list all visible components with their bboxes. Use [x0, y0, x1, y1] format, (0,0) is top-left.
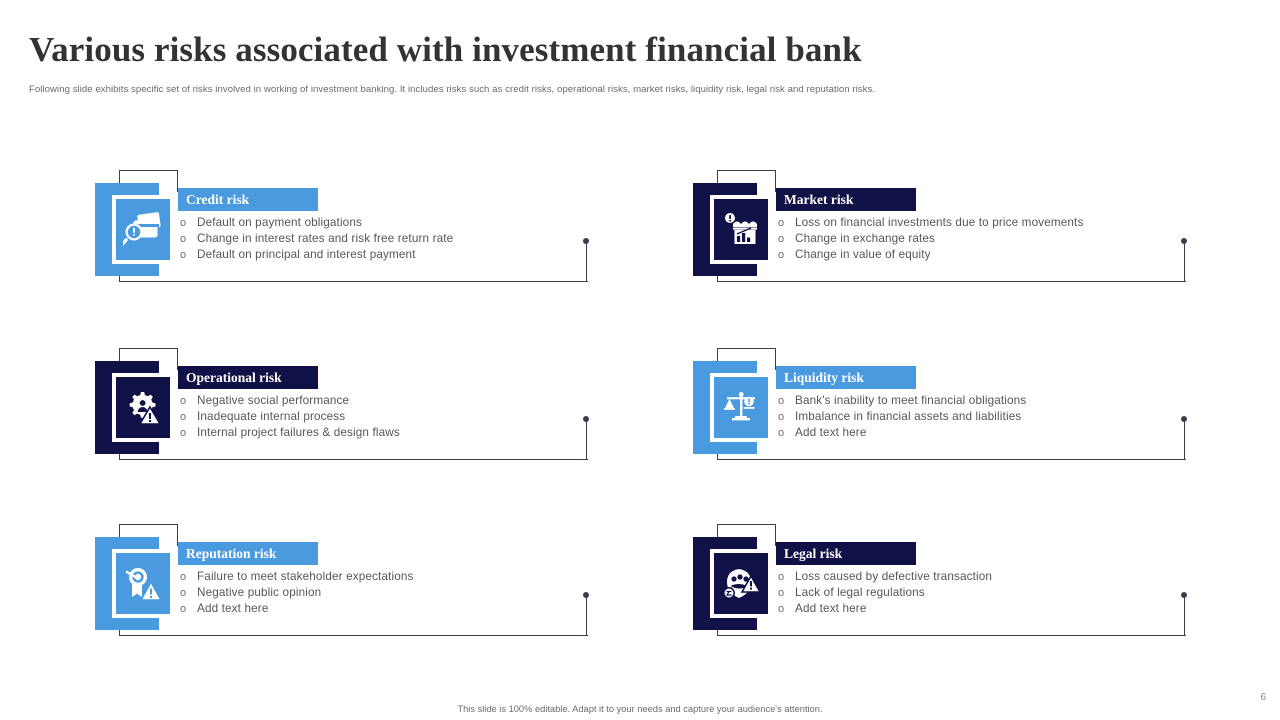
bullet-marker: o — [776, 247, 795, 263]
risk-bullet-text: Inadequate internal process — [197, 409, 345, 425]
bullet-marker: o — [776, 231, 795, 247]
risk-bullet-text: Change in exchange rates — [795, 231, 935, 247]
risk-bullet-text: Add text here — [795, 425, 866, 441]
risk-bullet-item: oFailure to meet stakeholder expectation… — [178, 569, 414, 585]
gear-person-warning-icon — [112, 373, 174, 442]
risk-bullet-item: oAdd text here — [776, 601, 992, 617]
risk-bullet-text: Failure to meet stakeholder expectations — [197, 569, 414, 585]
bullet-marker: o — [776, 601, 795, 617]
risk-bullet-list: oBank's inability to meet financial obli… — [776, 393, 1026, 441]
risk-bullet-text: Loss on financial investments due to pri… — [795, 215, 1083, 231]
risk-bullet-item: oLoss on financial investments due to pr… — [776, 215, 1083, 231]
risk-bullet-item: oChange in interest rates and risk free … — [178, 231, 453, 247]
bullet-marker: o — [178, 409, 197, 425]
risk-icon-block — [95, 537, 175, 630]
connector-riser — [586, 240, 587, 282]
risk-bullet-list: oNegative social performanceoInadequate … — [178, 393, 400, 441]
risk-icon-block — [693, 183, 773, 276]
risk-bullet-item: oBank's inability to meet financial obli… — [776, 393, 1026, 409]
connector-bottom-bracket — [717, 622, 1186, 636]
bullet-marker: o — [776, 393, 795, 409]
bullet-marker: o — [178, 425, 197, 441]
risk-bullet-text: Lack of legal regulations — [795, 585, 925, 601]
connector-riser — [1184, 240, 1185, 282]
magnifier-credit-card-icon — [112, 195, 174, 264]
risk-card-title: Operational risk — [178, 366, 318, 389]
bullet-marker: o — [178, 585, 197, 601]
risk-card: Operational riskoNegative social perform… — [95, 348, 595, 468]
risk-bullet-item: oChange in exchange rates — [776, 231, 1083, 247]
risk-bullet-text: Add text here — [795, 601, 866, 617]
risk-icon-block — [693, 537, 773, 630]
connector-riser — [1184, 594, 1185, 636]
risk-bullet-text: Bank's inability to meet financial oblig… — [795, 393, 1026, 409]
page-number: 6 — [1260, 692, 1266, 703]
connector-bottom-bracket — [119, 446, 588, 460]
risk-card-title: Reputation risk — [178, 542, 318, 565]
bullet-marker: o — [178, 569, 197, 585]
risk-bullet-text: Default on payment obligations — [197, 215, 362, 231]
gavel-shield-warning-icon — [710, 549, 772, 618]
risk-card-title: Credit risk — [178, 188, 318, 211]
risk-bullet-text: Change in interest rates and risk free r… — [197, 231, 453, 247]
connector-end-dot — [583, 416, 589, 422]
risk-card: Legal riskoLoss caused by defective tran… — [693, 524, 1193, 644]
risk-card: Liquidity riskoBank's inability to meet … — [693, 348, 1193, 468]
risk-bullet-text: Loss caused by defective transaction — [795, 569, 992, 585]
connector-end-dot — [583, 238, 589, 244]
risk-bullet-item: oInadequate internal process — [178, 409, 400, 425]
connector-end-dot — [583, 592, 589, 598]
risk-bullet-item: oLack of legal regulations — [776, 585, 992, 601]
risk-bullet-text: Default on principal and interest paymen… — [197, 247, 416, 263]
risk-bullet-item: oNegative public opinion — [178, 585, 414, 601]
bullet-marker: o — [178, 247, 197, 263]
connector-riser — [586, 418, 587, 460]
page-subtitle: Following slide exhibits specific set of… — [29, 83, 875, 97]
risk-card-title: Liquidity risk — [776, 366, 916, 389]
risk-bullet-item: oAdd text here — [178, 601, 414, 617]
risk-bullet-item: oLoss caused by defective transaction — [776, 569, 992, 585]
bullet-marker: o — [776, 569, 795, 585]
risk-card: Reputation riskoFailure to meet stakehol… — [95, 524, 595, 644]
risk-bullet-item: oAdd text here — [776, 425, 1026, 441]
connector-bottom-bracket — [717, 268, 1186, 282]
risk-card: Credit riskoDefault on payment obligatio… — [95, 170, 595, 290]
market-stall-bar-chart-icon — [710, 195, 772, 264]
bullet-marker: o — [776, 585, 795, 601]
connector-riser — [1184, 418, 1185, 460]
bullet-marker: o — [776, 215, 795, 231]
risk-bullet-list: oDefault on payment obligationsoChange i… — [178, 215, 453, 263]
risk-bullet-item: oImbalance in financial assets and liabi… — [776, 409, 1026, 425]
risk-bullet-list: oFailure to meet stakeholder expectation… — [178, 569, 414, 617]
connector-bottom-bracket — [119, 622, 588, 636]
risk-bullet-item: oDefault on payment obligations — [178, 215, 453, 231]
connector-bottom-bracket — [717, 446, 1186, 460]
risk-bullet-text: Negative social performance — [197, 393, 349, 409]
risk-card-title: Market risk — [776, 188, 916, 211]
connector-end-dot — [1181, 416, 1187, 422]
risk-bullet-item: oNegative social performance — [178, 393, 400, 409]
risk-bullet-item: oInternal project failures & design flaw… — [178, 425, 400, 441]
bullet-marker: o — [776, 425, 795, 441]
risk-bullet-text: Negative public opinion — [197, 585, 321, 601]
footer-note: This slide is 100% editable. Adapt it to… — [0, 704, 1280, 714]
bullet-marker: o — [776, 409, 795, 425]
connector-riser — [586, 594, 587, 636]
award-badge-warning-icon — [112, 549, 174, 618]
risk-icon-block — [95, 183, 175, 276]
bullet-marker: o — [178, 393, 197, 409]
risk-icon-block — [95, 361, 175, 454]
risk-bullet-list: oLoss on financial investments due to pr… — [776, 215, 1083, 263]
risk-bullet-text: Change in value of equity — [795, 247, 931, 263]
risk-bullet-item: oChange in value of equity — [776, 247, 1083, 263]
risk-card: Market riskoLoss on financial investment… — [693, 170, 1193, 290]
bullet-marker: o — [178, 231, 197, 247]
risk-bullet-text: Imbalance in financial assets and liabil… — [795, 409, 1021, 425]
risk-bullet-text: Internal project failures & design flaws — [197, 425, 400, 441]
page-title: Various risks associated with investment… — [29, 29, 862, 71]
bullet-marker: o — [178, 601, 197, 617]
risk-bullet-item: oDefault on principal and interest payme… — [178, 247, 453, 263]
risk-bullet-text: Add text here — [197, 601, 268, 617]
balance-scale-icon — [710, 373, 772, 442]
bullet-marker: o — [178, 215, 197, 231]
connector-bottom-bracket — [119, 268, 588, 282]
risk-icon-block — [693, 361, 773, 454]
risk-card-title: Legal risk — [776, 542, 916, 565]
connector-end-dot — [1181, 238, 1187, 244]
risk-bullet-list: oLoss caused by defective transactionoLa… — [776, 569, 992, 617]
connector-end-dot — [1181, 592, 1187, 598]
